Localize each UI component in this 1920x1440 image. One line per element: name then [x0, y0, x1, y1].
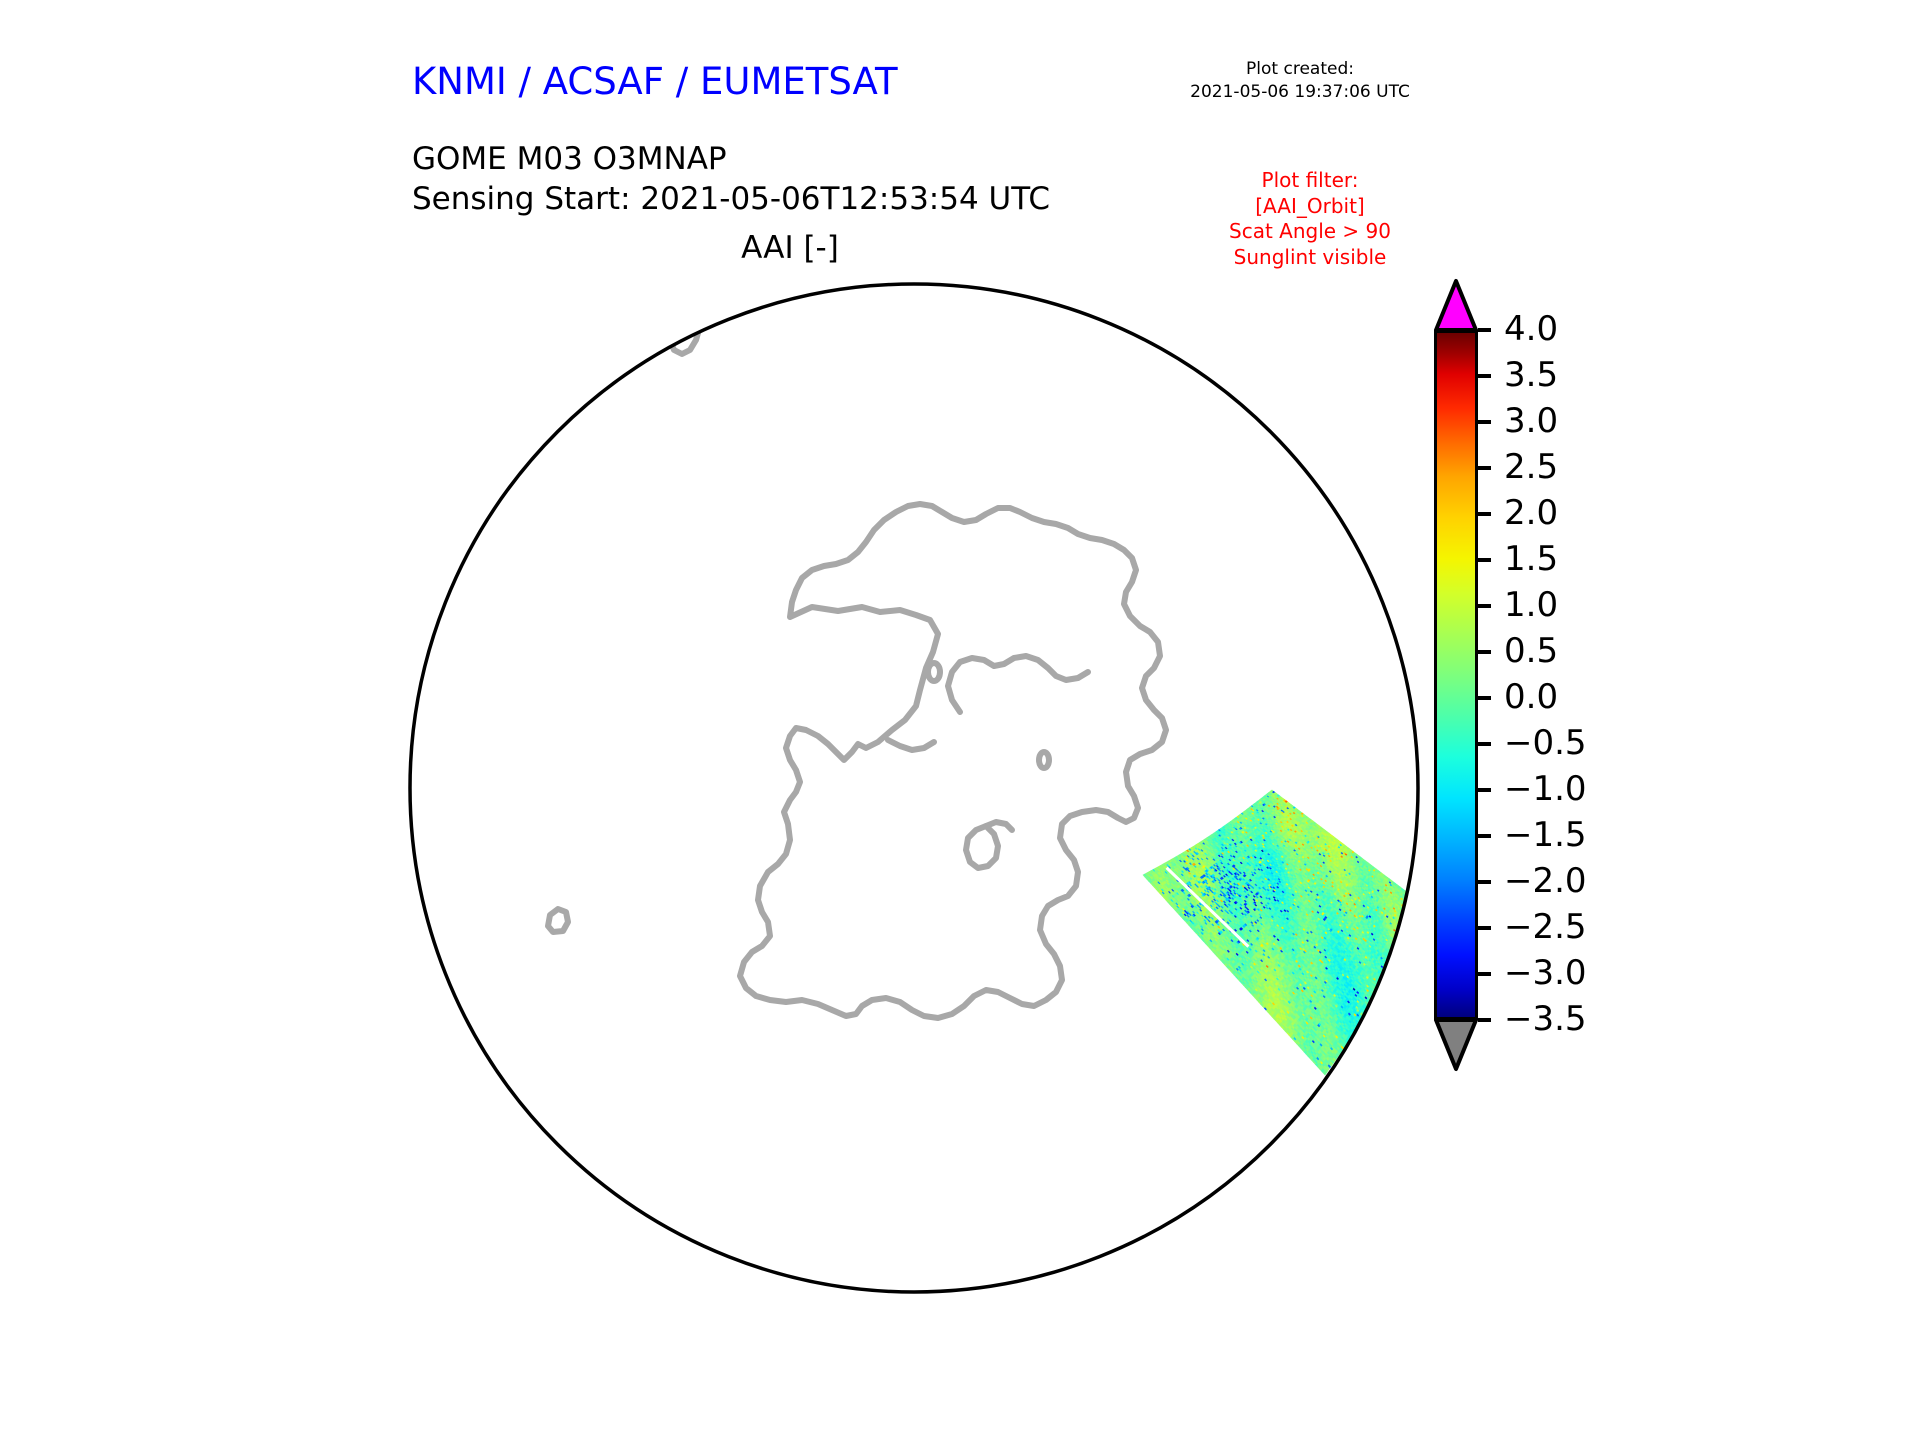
colorbar-over-arrow	[1434, 278, 1478, 332]
new-zealand-south-island	[670, 260, 714, 354]
colorbar-tick-mark	[1478, 1018, 1491, 1022]
colorbar-tick-label: −3.5	[1504, 999, 1587, 1039]
plot-page: KNMI / ACSAF / EUMETSAT Plot created: 20…	[0, 0, 1920, 1440]
colorbar-tick-mark	[1478, 420, 1491, 424]
colorbar-tick-label: −3.0	[1504, 953, 1587, 993]
colorbar-tick-label: −0.5	[1504, 723, 1587, 763]
antarctica-coastline	[740, 504, 1166, 1018]
colorbar-tick-mark	[1478, 512, 1491, 516]
colorbar-tick-mark	[1478, 604, 1491, 608]
colorbar-gradient	[1434, 330, 1478, 1020]
australia-south-coast	[460, 288, 520, 312]
tasmania	[528, 314, 556, 342]
colorbar-tick-mark	[1478, 926, 1491, 930]
coastal-inlet-detail	[966, 826, 998, 868]
new-zealand-north-island	[696, 220, 724, 260]
colorbar-tick-label: −1.0	[1504, 769, 1587, 809]
colorbar-tick-label: −2.0	[1504, 861, 1587, 901]
colorbar-tick-label: 3.0	[1504, 401, 1558, 441]
colorbar-tick-mark	[1478, 788, 1491, 792]
subantarctic-island	[548, 909, 568, 932]
colorbar-tick-label: 0.5	[1504, 631, 1558, 671]
colorbar-tick-mark	[1478, 466, 1491, 470]
colorbar-tick-mark	[1478, 650, 1491, 654]
colorbar-tick-mark	[1478, 972, 1491, 976]
colorbar-tick-mark	[1478, 558, 1491, 562]
map-boundary-circle	[410, 284, 1418, 1292]
colorbar-tick-label: 1.5	[1504, 539, 1558, 579]
colorbar-tick-list: 4.03.53.02.52.01.51.00.50.0−0.5−1.0−1.5−…	[1478, 330, 1628, 1020]
peninsula-island-a	[928, 663, 940, 681]
colorbar-tick-mark	[1478, 834, 1491, 838]
colorbar: 4.03.53.02.52.01.51.00.50.0−0.5−1.0−1.5−…	[1430, 270, 1630, 1110]
coastline-layer	[460, 220, 1166, 1018]
colorbar-tick-mark	[1478, 880, 1491, 884]
polar-map	[0, 0, 1920, 1440]
colorbar-tick-mark	[1478, 696, 1491, 700]
colorbar-tick-label: 4.0	[1504, 309, 1558, 349]
colorbar-tick-label: 2.5	[1504, 447, 1558, 487]
peninsula-island-b	[1039, 752, 1049, 768]
colorbar-tick-label: −1.5	[1504, 815, 1587, 855]
colorbar-tick-mark	[1478, 742, 1491, 746]
colorbar-tick-label: 3.5	[1504, 355, 1558, 395]
aai-data-swath	[1143, 790, 1424, 1075]
antarctic-peninsula	[948, 656, 1088, 712]
ross-ice-shelf-edge	[888, 740, 934, 750]
colorbar-tick-label: 2.0	[1504, 493, 1558, 533]
colorbar-tick-label: 1.0	[1504, 585, 1558, 625]
colorbar-tick-label: −2.5	[1504, 907, 1587, 947]
colorbar-tick-mark	[1478, 374, 1491, 378]
colorbar-tick-label: 0.0	[1504, 677, 1558, 717]
colorbar-tick-mark	[1478, 328, 1491, 332]
colorbar-under-arrow	[1434, 1018, 1478, 1072]
